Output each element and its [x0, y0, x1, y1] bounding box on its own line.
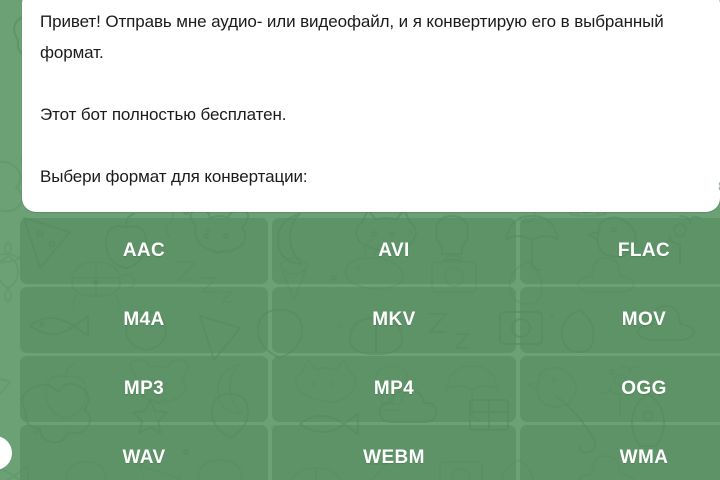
- message-paragraph-2: Этот бот полностью бесплатен.: [40, 99, 706, 130]
- chat-screen: Привет! Отправь мне аудио- или видеофайл…: [0, 0, 720, 480]
- format-button-aac[interactable]: AAC: [20, 218, 268, 284]
- message-spacer-2: [40, 130, 706, 161]
- message-bubble-bot: Привет! Отправь мне аудио- или видеофайл…: [22, 0, 720, 212]
- format-button-ogg[interactable]: OGG: [520, 356, 720, 422]
- format-button-m4a[interactable]: M4A: [20, 287, 268, 353]
- format-button-wav[interactable]: WAV: [20, 425, 268, 480]
- format-button-webm[interactable]: WEBM: [272, 425, 516, 480]
- message-spacer-1: [40, 68, 706, 99]
- format-button-flac[interactable]: FLAC: [520, 218, 720, 284]
- format-button-mp3[interactable]: MP3: [20, 356, 268, 422]
- format-button-avi[interactable]: AVI: [272, 218, 516, 284]
- format-button-mp4[interactable]: MP4: [272, 356, 516, 422]
- message-paragraph-3: Выбери формат для конвертации:: [40, 161, 706, 192]
- message-text: Привет! Отправь мне аудио- или видеофайл…: [40, 6, 706, 192]
- format-button-mkv[interactable]: MKV: [272, 287, 516, 353]
- format-button-wma[interactable]: WMA: [520, 425, 720, 480]
- inline-keyboard: AAC AVI FLAC M4A MKV MOV MP3 MP4 OGG WAV…: [20, 218, 720, 480]
- message-paragraph-1: Привет! Отправь мне аудио- или видеофайл…: [40, 6, 706, 68]
- format-button-mov[interactable]: MOV: [520, 287, 720, 353]
